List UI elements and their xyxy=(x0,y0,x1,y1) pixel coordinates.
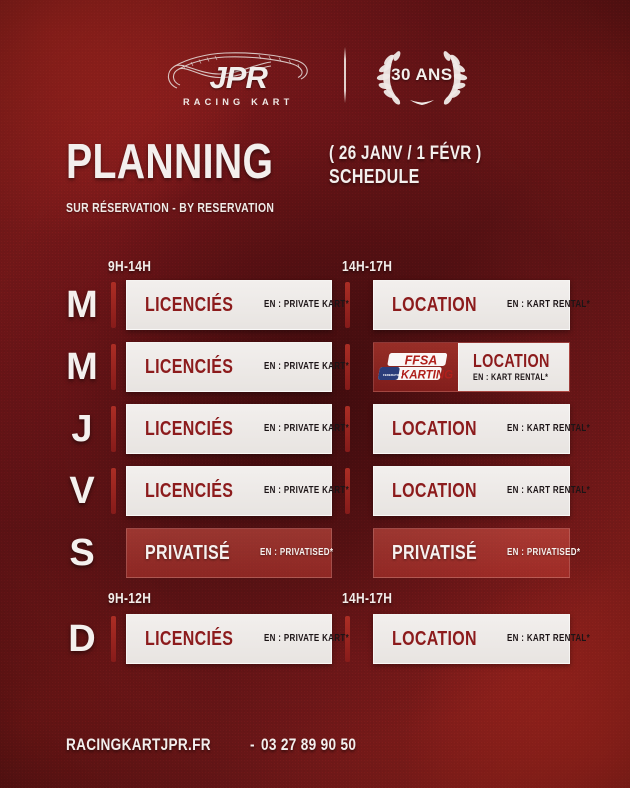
slot-title: LICENCIÉS xyxy=(145,419,255,439)
table-row: M LICENCIÉS EN : PRIVATE KART* FFSA xyxy=(0,342,630,404)
slot-title: LICENCIÉS xyxy=(145,481,255,501)
accent-bar-morning xyxy=(111,468,116,514)
slot-subtitle: EN : KART RENTAL* xyxy=(507,486,611,496)
day-label: M xyxy=(60,342,104,392)
karting-text: KARTING xyxy=(401,370,453,382)
accent-bar-morning xyxy=(111,344,116,390)
column-header-morning-sunday: 9H-12H xyxy=(108,590,162,607)
slot-title: LOCATION xyxy=(392,629,498,649)
page-title: PLANNING xyxy=(66,140,325,184)
ffsa-federation-text: FEDERATION xyxy=(383,373,402,377)
column-header-afternoon: 14H-17H xyxy=(342,258,405,275)
day-label: S xyxy=(60,528,104,578)
jpr-wordmark: JPR xyxy=(159,60,317,96)
slot-subtitle: EN : PRIVATISED* xyxy=(260,548,352,558)
page-title-text: PLANNING xyxy=(66,140,273,184)
header: JPR RACING KART xyxy=(0,34,630,116)
ffsa-karting-logo-icon: FFSA KARTING FEDERATION xyxy=(374,343,458,391)
slot-afternoon[interactable]: LOCATION EN : KART RENTAL* xyxy=(373,466,570,516)
slot-title: LICENCIÉS xyxy=(145,357,255,377)
table-row: D LICENCIÉS EN : PRIVATE KART* LOCATION … xyxy=(0,614,630,676)
slot-title: LICENCIÉS xyxy=(145,629,255,649)
ffsa-slot-panel: LOCATION EN : KART RENTAL* xyxy=(458,343,569,391)
table-row: S PRIVATISÉ EN : PRIVATISED* PRIVATISÉ E… xyxy=(0,528,630,590)
slot-subtitle: EN : PRIVATE KART* xyxy=(264,362,370,372)
header-divider xyxy=(344,47,346,103)
day-label: D xyxy=(60,614,104,664)
slot-title: LOCATION xyxy=(473,352,569,370)
slot-morning[interactable]: LICENCIÉS EN : PRIVATE KART* xyxy=(126,342,332,392)
ffsa-text: FFSA xyxy=(405,354,438,368)
table-row: J LICENCIÉS EN : PRIVATE KART* LOCATION … xyxy=(0,404,630,466)
slot-subtitle: EN : PRIVATE KART* xyxy=(264,300,370,310)
poster-page: JPR RACING KART xyxy=(0,0,630,788)
slot-subtitle: EN : PRIVATISED* xyxy=(507,548,599,558)
phone-number[interactable]: - 03 27 89 90 50 xyxy=(250,735,380,755)
slot-subtitle: EN : PRIVATE KART* xyxy=(264,634,370,644)
accent-bar-morning xyxy=(111,406,116,452)
slot-afternoon[interactable]: LOCATION EN : KART RENTAL* xyxy=(373,280,570,330)
column-header-row-main: 9H-14H 14H-17H xyxy=(0,258,630,280)
slot-afternoon[interactable]: PRIVATISÉ EN : PRIVATISED* xyxy=(373,528,570,578)
slot-subtitle: EN : KART RENTAL* xyxy=(507,424,611,434)
website-link[interactable]: RACINGKARTJPR.FR xyxy=(66,735,247,755)
slot-title: PRIVATISÉ xyxy=(392,543,498,563)
slot-subtitle: EN : PRIVATE KART* xyxy=(264,486,370,496)
slot-morning[interactable]: LICENCIÉS EN : PRIVATE KART* xyxy=(126,280,332,330)
slot-afternoon[interactable]: LOCATION EN : KART RENTAL* xyxy=(373,614,570,664)
brand-logo: JPR RACING KART xyxy=(158,44,318,107)
title-subtitle-text: SCHEDULE xyxy=(329,166,420,188)
table-row: M LICENCIÉS EN : PRIVATE KART* LOCATION … xyxy=(0,280,630,342)
slot-subtitle: EN : KART RENTAL* xyxy=(507,634,611,644)
slot-title: PRIVATISÉ xyxy=(145,543,251,563)
slot-title: LOCATION xyxy=(392,419,498,439)
column-header-morning: 9H-14H xyxy=(108,258,162,275)
date-range: ( 26 JANV / 1 FÉVR ) xyxy=(329,144,520,164)
day-label: M xyxy=(60,280,104,330)
accent-bar-morning xyxy=(111,282,116,328)
slot-title: LICENCIÉS xyxy=(145,295,255,315)
slot-afternoon[interactable]: LOCATION EN : KART RENTAL* xyxy=(373,404,570,454)
title-subtitle: SCHEDULE xyxy=(329,166,520,188)
date-range-text: ( 26 JANV / 1 FÉVR ) xyxy=(329,144,482,164)
footer-contact: RACINGKARTJPR.FR - 03 27 89 90 50 xyxy=(66,735,380,755)
slot-title: LOCATION xyxy=(392,481,498,501)
slot-afternoon[interactable]: FFSA KARTING FEDERATION LOCATION EN : KA… xyxy=(373,342,570,392)
anniversary-badge: 30 ANS xyxy=(372,43,472,107)
day-label: J xyxy=(60,404,104,454)
jpr-track-outline-icon: JPR xyxy=(159,44,317,100)
column-header-row-sunday: 9H-12H 14H-17H xyxy=(0,590,630,614)
table-row: V LICENCIÉS EN : PRIVATE KART* LOCATION … xyxy=(0,466,630,528)
reservation-note: SUR RÉSERVATION - BY RESERVATION xyxy=(66,200,566,215)
slot-morning[interactable]: LICENCIÉS EN : PRIVATE KART* xyxy=(126,466,332,516)
slot-title: LOCATION xyxy=(392,295,498,315)
slot-morning[interactable]: PRIVATISÉ EN : PRIVATISED* xyxy=(126,528,332,578)
title-block: PLANNING ( 26 JANV / 1 FÉVR ) SCHEDULE S… xyxy=(66,140,566,215)
slot-subtitle: EN : PRIVATE KART* xyxy=(264,424,370,434)
anniversary-text: 30 ANS xyxy=(391,65,452,85)
slot-morning[interactable]: LICENCIÉS EN : PRIVATE KART* xyxy=(126,404,332,454)
schedule-grid: 9H-14H 14H-17H M LICENCIÉS EN : PRIVATE … xyxy=(0,258,630,676)
reservation-note-text: SUR RÉSERVATION - BY RESERVATION xyxy=(66,200,274,215)
accent-bar-morning xyxy=(111,616,116,662)
day-label: V xyxy=(60,466,104,516)
slot-subtitle: EN : KART RENTAL* xyxy=(507,300,611,310)
column-header-afternoon-sunday: 14H-17H xyxy=(342,590,405,607)
slot-morning[interactable]: LICENCIÉS EN : PRIVATE KART* xyxy=(126,614,332,664)
slot-subtitle: EN : KART RENTAL* xyxy=(473,373,569,382)
